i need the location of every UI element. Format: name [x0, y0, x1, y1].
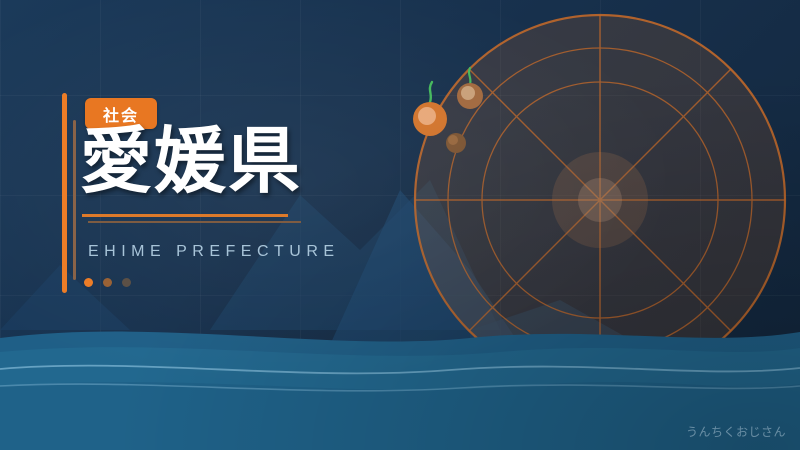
mikan-large	[413, 82, 447, 136]
emblem-hub	[552, 152, 648, 248]
left-accent-bar-secondary	[73, 120, 76, 280]
emblem-fill	[415, 15, 785, 385]
vignette-overlay	[0, 0, 800, 450]
mountain-silhouettes	[0, 0, 800, 450]
mountain-shard-right	[470, 300, 640, 350]
wave-line-upper	[0, 366, 800, 374]
dot-3	[122, 278, 131, 287]
title-underline-primary	[82, 214, 288, 217]
radial-compass-emblem	[0, 0, 800, 450]
watermark: うんちくおじさん	[686, 423, 786, 440]
wave-line-lower	[0, 384, 800, 391]
wave-band-mid	[0, 347, 800, 450]
emblem-outer-ring	[415, 15, 785, 385]
slide-canvas: 社会 愛媛県 EHIME PREFECTURE うんちくおじさん	[0, 0, 800, 450]
dot-2	[103, 278, 112, 287]
emblem-rings	[448, 48, 752, 352]
mikan-small	[446, 133, 466, 153]
page-title: 愛媛県	[80, 126, 302, 198]
ocean-waves	[0, 0, 800, 450]
left-accent-bar-primary	[62, 93, 67, 293]
mikan-medium	[457, 68, 483, 109]
emblem-spokes	[405, 5, 795, 395]
page-subtitle: EHIME PREFECTURE	[88, 243, 340, 261]
wave-band-dark	[0, 332, 800, 450]
dot-indicator-group	[84, 278, 131, 287]
background-grid	[0, 0, 800, 450]
wave-band-front	[0, 382, 800, 450]
mikan-orange-cluster	[0, 0, 800, 450]
title-underline-secondary	[88, 221, 301, 223]
dot-1	[84, 278, 93, 287]
mountain-mid	[330, 190, 520, 345]
emblem-core	[578, 178, 622, 222]
